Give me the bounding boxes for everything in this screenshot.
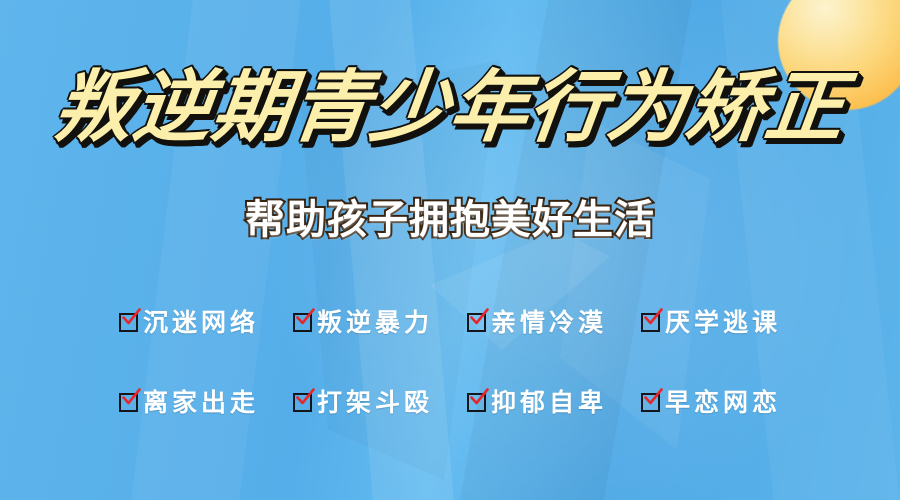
list-item[interactable]: 亲情冷漠 [467,303,607,339]
list-item-label: 叛逆暴力 [317,303,433,339]
page-subtitle: 帮助孩子拥抱美好生活 [245,198,655,242]
checkbox-checked-icon[interactable] [119,312,138,331]
checkbox-checked-icon[interactable] [641,312,660,331]
list-item-label: 打架斗殴 [317,383,433,419]
checklist-row: 离家出走 打架斗殴 抑郁自卑 [60,372,840,430]
list-item[interactable]: 叛逆暴力 [293,303,433,339]
checklist: 沉迷网络 叛逆暴力 亲情冷漠 [60,292,840,430]
checkbox-checked-icon[interactable] [293,312,312,331]
list-item[interactable]: 离家出走 [119,383,259,419]
checklist-row: 沉迷网络 叛逆暴力 亲情冷漠 [60,292,840,350]
list-item-label: 亲情冷漠 [491,303,607,339]
list-item-label: 离家出走 [143,383,259,419]
list-item[interactable]: 厌学逃课 [641,303,781,339]
list-item[interactable]: 早恋网恋 [641,383,781,419]
list-item[interactable]: 打架斗殴 [293,383,433,419]
checkbox-checked-icon[interactable] [467,392,486,411]
checkbox-checked-icon[interactable] [119,392,138,411]
checkbox-checked-icon[interactable] [467,312,486,331]
list-item-label: 沉迷网络 [143,303,259,339]
headline-container: 叛逆期青少年行为矫正 [0,68,900,146]
list-item-label: 抑郁自卑 [491,383,607,419]
subtitle-container: 帮助孩子拥抱美好生活 [0,198,900,242]
checkbox-checked-icon[interactable] [641,392,660,411]
list-item-label: 厌学逃课 [665,303,781,339]
promo-banner: 叛逆期青少年行为矫正 帮助孩子拥抱美好生活 沉迷网络 [0,0,900,500]
list-item[interactable]: 抑郁自卑 [467,383,607,419]
checkbox-checked-icon[interactable] [293,392,312,411]
list-item-label: 早恋网恋 [665,383,781,419]
list-item[interactable]: 沉迷网络 [119,303,259,339]
page-title: 叛逆期青少年行为矫正 [50,68,850,146]
